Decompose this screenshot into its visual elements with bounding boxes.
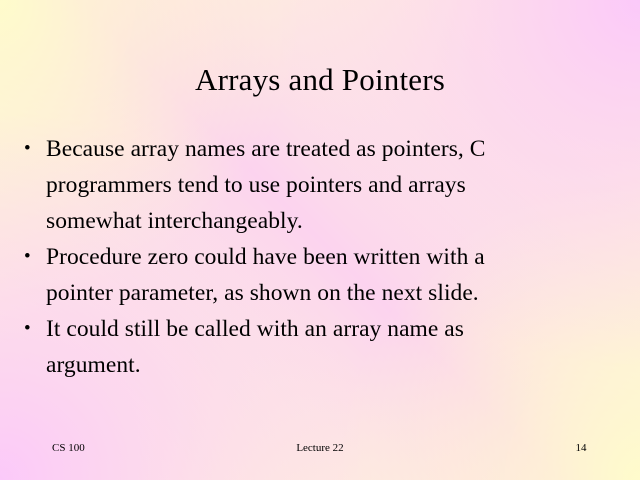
presentation-slide: Arrays and Pointers • Because array name… bbox=[0, 0, 640, 480]
slide-body: • Because array names are treated as poi… bbox=[24, 131, 616, 383]
bullet-point-icon: • bbox=[24, 239, 46, 275]
bullet-point-icon: • bbox=[24, 311, 46, 347]
bullet-point-icon: • bbox=[24, 131, 46, 167]
bullet-text: Because array names are treated as point… bbox=[46, 131, 616, 239]
slide-content: Arrays and Pointers • Because array name… bbox=[0, 0, 640, 480]
slide-footer: CS 100 Lecture 22 14 bbox=[0, 440, 640, 458]
bullet-item: • It could still be called with an array… bbox=[24, 311, 616, 383]
slide-title: Arrays and Pointers bbox=[0, 62, 640, 98]
bullet-item: • Procedure zero could have been written… bbox=[24, 239, 616, 311]
footer-page-number: 14 bbox=[261, 440, 640, 456]
bullet-text: It could still be called with an array n… bbox=[46, 311, 616, 383]
bullet-item: • Because array names are treated as poi… bbox=[24, 131, 616, 239]
bullet-text: Procedure zero could have been written w… bbox=[46, 239, 616, 311]
